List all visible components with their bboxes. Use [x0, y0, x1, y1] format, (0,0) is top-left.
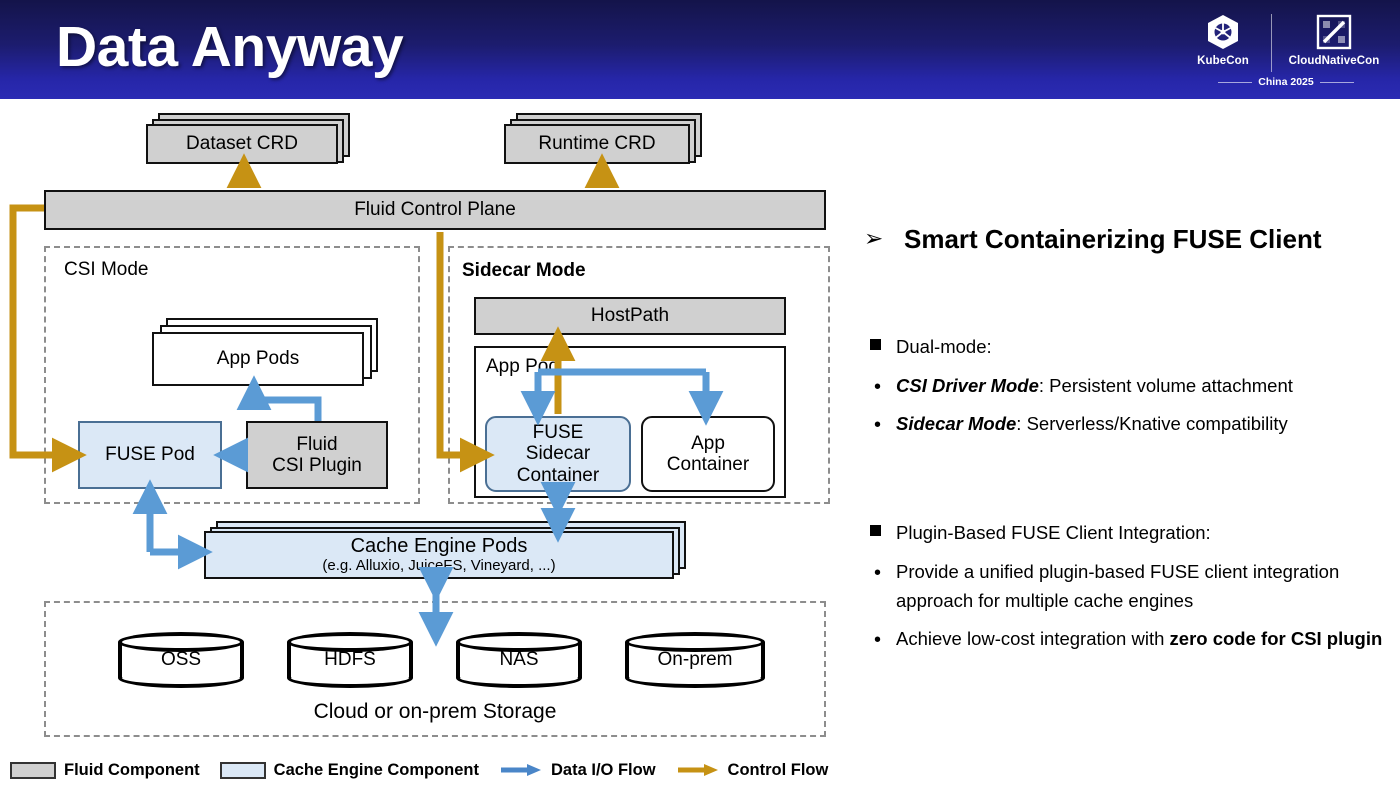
app-container-box[interactable]: App Container — [641, 416, 775, 492]
sidecar-mode-label: Sidecar Mode — [462, 260, 586, 282]
bullet-plugin-based-label: Plugin-Based FUSE Client Integration: — [896, 522, 1211, 543]
legend-label-control: Control Flow — [728, 761, 829, 780]
kubecon-label: KubeCon — [1182, 55, 1264, 67]
fuse-sidecar-label-line2: Sidecar — [526, 443, 590, 464]
hostpath-box[interactable]: HostPath — [474, 297, 786, 335]
runtime-crd-box[interactable]: Runtime CRD — [504, 124, 690, 164]
fuse-sidecar-container-box[interactable]: FUSE Sidecar Container — [485, 416, 631, 492]
bullet-csi-driver-mode: • CSI Driver Mode: Persistent volume att… — [856, 372, 1400, 401]
cloudnative-square-icon — [1278, 10, 1390, 54]
logo-divider — [1271, 14, 1272, 72]
legend-arrow-data-io-icon — [499, 762, 543, 778]
legend-label-data-io: Data I/O Flow — [551, 761, 656, 780]
legend: Fluid Component Cache Engine Component D… — [10, 757, 910, 783]
bullet-sidecar-mode-term: Sidecar Mode — [896, 413, 1016, 434]
dot-bullet-icon: • — [874, 558, 881, 589]
bullet-low-cost: • Achieve low-cost integration with zero… — [856, 625, 1400, 654]
fuse-pod-box[interactable]: FUSE Pod — [78, 421, 222, 489]
kubernetes-helm-icon — [1182, 10, 1264, 54]
app-container-label-line1: App — [691, 433, 725, 454]
app-pods-box[interactable]: App Pods — [152, 332, 364, 386]
bullet-low-cost-emphasis: zero code for CSI plugin — [1170, 628, 1383, 649]
bullet-dual-mode: Dual-mode: — [856, 335, 1400, 358]
storage-cylinder-oss[interactable]: OSS — [118, 632, 244, 688]
right-text-panel: ➢ Smart Containerizing FUSE Client Dual-… — [856, 225, 1400, 655]
dot-bullet-icon: • — [874, 410, 881, 441]
storage-label-hdfs: HDFS — [287, 632, 413, 688]
page-title: Data Anyway — [56, 14, 403, 80]
bullet-dual-mode-label: Dual-mode: — [896, 336, 992, 357]
legend-swatch-cache — [220, 762, 266, 779]
square-bullet-icon — [870, 525, 881, 536]
slide-header: Data Anyway — [0, 0, 1400, 99]
legend-label-cache: Cache Engine Component — [274, 761, 479, 780]
bullet-unified-plugin-label: Provide a unified plugin-based FUSE clie… — [896, 561, 1339, 611]
bullet-plugin-based: Plugin-Based FUSE Client Integration: — [856, 521, 1400, 544]
fluid-control-plane-label: Fluid Control Plane — [354, 199, 516, 220]
conference-year-label: China 2025 — [1258, 76, 1313, 88]
app-pods-label: App Pods — [217, 348, 299, 369]
dataset-crd-box[interactable]: Dataset CRD — [146, 124, 338, 164]
fluid-control-plane-box[interactable]: Fluid Control Plane — [44, 190, 826, 230]
bullet-csi-driver-mode-term: CSI Driver Mode — [896, 375, 1039, 396]
kubecon-logo: KubeCon — [1182, 10, 1264, 67]
fluid-csi-plugin-box[interactable]: Fluid CSI Plugin — [246, 421, 388, 489]
cache-engine-pods-title: Cache Engine Pods — [351, 535, 528, 557]
storage-group-label: Cloud or on-prem Storage — [44, 700, 826, 724]
cloudnativecon-label: CloudNativeCon — [1278, 55, 1390, 67]
panel-heading: ➢ Smart Containerizing FUSE Client — [856, 225, 1400, 254]
bullet-low-cost-label: Achieve low-cost integration with — [896, 628, 1170, 649]
cache-engine-pods-subtitle: (e.g. Alluxio, JuiceFS, Vineyard, ...) — [322, 558, 555, 575]
bullet-sidecar-mode: • Sidecar Mode: Serverless/Knative compa… — [856, 410, 1400, 439]
storage-label-oss: OSS — [118, 632, 244, 688]
legend-item-fluid-component: Fluid Component — [10, 761, 200, 780]
runtime-crd-label: Runtime CRD — [538, 133, 655, 154]
legend-item-data-io-flow: Data I/O Flow — [499, 761, 656, 780]
chevron-right-icon: ➢ — [864, 226, 883, 251]
dot-bullet-icon: • — [874, 372, 881, 403]
app-container-label-line2: Container — [667, 454, 749, 475]
csi-mode-label: CSI Mode — [64, 259, 148, 281]
bullet-csi-driver-mode-desc: : Persistent volume attachment — [1039, 375, 1293, 396]
cache-engine-pods-box[interactable]: Cache Engine Pods (e.g. Alluxio, JuiceFS… — [204, 531, 674, 579]
fluid-csi-plugin-label-line2: CSI Plugin — [272, 455, 362, 476]
legend-swatch-fluid — [10, 762, 56, 779]
slide-canvas: Data Anyway — [0, 0, 1400, 787]
fuse-pod-label: FUSE Pod — [105, 444, 195, 465]
dataset-crd-label: Dataset CRD — [186, 133, 298, 154]
legend-arrow-control-icon — [676, 762, 720, 778]
storage-cylinder-onprem[interactable]: On-prem — [625, 632, 765, 688]
storage-cylinder-nas[interactable]: NAS — [456, 632, 582, 688]
app-pod-label: App Pod — [486, 356, 559, 377]
storage-cylinder-hdfs[interactable]: HDFS — [287, 632, 413, 688]
fuse-sidecar-label-line1: FUSE — [533, 422, 584, 443]
fluid-csi-plugin-label-line1: Fluid — [296, 434, 337, 455]
conference-year: China 2025 — [1182, 76, 1390, 88]
storage-label-nas: NAS — [456, 632, 582, 688]
hostpath-label: HostPath — [591, 305, 669, 326]
legend-item-control-flow: Control Flow — [676, 761, 829, 780]
fuse-sidecar-label-line3: Container — [517, 465, 599, 486]
panel-heading-label: Smart Containerizing FUSE Client — [904, 224, 1322, 254]
cloudnativecon-logo: CloudNativeCon — [1278, 10, 1390, 67]
conference-logos: KubeCon CloudNativeCon China — [1174, 6, 1394, 94]
legend-label-fluid: Fluid Component — [64, 761, 200, 780]
bullet-sidecar-mode-desc: : Serverless/Knative compatibility — [1016, 413, 1287, 434]
dot-bullet-icon: • — [874, 625, 881, 656]
legend-item-cache-component: Cache Engine Component — [220, 761, 479, 780]
bullet-unified-plugin: • Provide a unified plugin-based FUSE cl… — [856, 558, 1376, 615]
storage-label-onprem: On-prem — [625, 632, 765, 688]
square-bullet-icon — [870, 339, 881, 350]
